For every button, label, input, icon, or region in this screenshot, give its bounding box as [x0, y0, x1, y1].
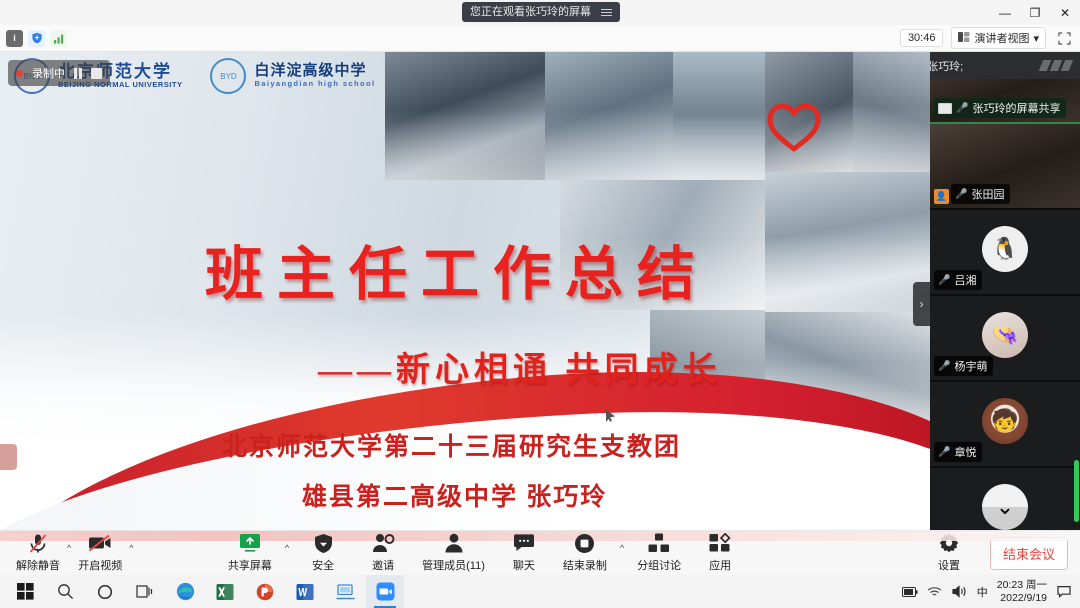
left-edge-tab[interactable] [0, 444, 17, 470]
windows-taskbar: 中 20:23 周一 2022/9/19 [0, 575, 1080, 608]
unmute-button[interactable]: 解除静音 [10, 531, 66, 576]
remote-desktop-icon[interactable] [326, 575, 364, 608]
meeting-status-icons: i [6, 30, 67, 47]
start-video-button[interactable]: 开启视频 [72, 531, 128, 576]
shared-screen-stage[interactable]: BNU 北京师范大学 BEIJING NORMAL UNIVERSITY BYD… [0, 52, 930, 530]
rail-scrollbar[interactable] [1074, 460, 1079, 522]
excel-icon[interactable] [206, 575, 244, 608]
participant-name-chip: 🎤 章悦 [934, 442, 982, 462]
microphone-muted-icon: 🎤 [938, 275, 950, 286]
hamburger-icon[interactable] [601, 7, 612, 18]
recording-dot-icon [16, 70, 23, 77]
avatar: 🐧 [982, 226, 1028, 272]
microphone-muted-icon: 🎤 [938, 361, 950, 372]
participant-name: 吕湘 [954, 272, 976, 288]
view-mode-label: 演讲者视图 [974, 30, 1029, 46]
minimize-button[interactable]: — [990, 0, 1020, 25]
breakout-rooms-label: 分组讨论 [637, 557, 681, 573]
host-badge-icon: 👤 [934, 189, 949, 204]
microphone-muted-icon: 🎤 [955, 189, 967, 200]
recording-options-chevron-icon[interactable]: ^ [619, 543, 625, 563]
powerpoint-icon[interactable] [246, 575, 284, 608]
recording-label: 录制中 [32, 65, 65, 81]
window-controls: — ❐ ✕ [990, 0, 1080, 25]
microphone-on-icon: 🎤 [956, 103, 968, 114]
toolbar-center-group: 共享屏幕 ^ 安全 邀请 管理成员(11) [222, 531, 747, 576]
info-icon[interactable]: i [6, 30, 23, 47]
search-icon[interactable] [46, 575, 84, 608]
participant-tile-lvxiang[interactable]: 🐧 🎤 吕湘 [930, 210, 1080, 296]
zoom-meeting-window: 您正在观看张巧玲的屏幕 — ❐ ✕ i 30:46 演讲者视图 [0, 0, 1080, 608]
security-button[interactable]: 安全 [296, 531, 350, 576]
ime-indicator[interactable]: 中 [977, 584, 988, 600]
word-icon[interactable] [286, 575, 324, 608]
participant-name-chip: 🎤 杨宇萌 [934, 356, 993, 376]
wave-decoration-icon [1041, 60, 1071, 71]
close-button[interactable]: ✕ [1050, 0, 1080, 25]
participant-name: 杨宇萌 [954, 358, 987, 374]
settings-label: 设置 [938, 557, 960, 573]
chat-bubble-icon [513, 533, 535, 554]
participant-name: 张田园 [971, 186, 1004, 202]
recording-indicator: 录制中 [8, 60, 110, 86]
meeting-bottom-toolbar: 解除静音 ^ 开启视频 ^ 共享屏幕 ^ [0, 530, 1080, 575]
clock-date: 2022/9/19 [997, 592, 1047, 604]
volume-icon[interactable] [952, 584, 968, 600]
participant-tile-zhangyue[interactable]: 🧒 🎤 章悦 [930, 382, 1080, 468]
viewing-screen-tooltip: 您正在观看张巧玲的屏幕 [462, 2, 620, 22]
windows-start-icon[interactable] [6, 575, 44, 608]
stop-icon[interactable] [91, 68, 102, 79]
zoom-icon[interactable] [366, 575, 404, 608]
pause-icon[interactable] [74, 68, 82, 79]
active-speaker-banner: 正在讲话: 张巧玲; [930, 52, 1080, 79]
participants-icon [443, 533, 465, 554]
invite-person-icon [372, 533, 395, 554]
view-mode-selector[interactable]: 演讲者视图 ▾ [951, 27, 1046, 49]
active-speaker-label: 正在讲话: 张巧玲; [930, 58, 963, 74]
avatar: 🧒 [982, 398, 1028, 444]
participant-name: 张巧玲的屏幕共享 [972, 100, 1060, 116]
meeting-timer: 30:46 [900, 29, 944, 47]
maximize-button[interactable]: ❐ [1020, 0, 1050, 25]
breakout-rooms-button[interactable]: 分组讨论 [631, 531, 687, 576]
security-label: 安全 [312, 557, 334, 573]
shield-encryption-icon[interactable] [28, 30, 45, 47]
manage-participants-label: 管理成员(11) [422, 557, 485, 573]
unmute-label: 解除静音 [16, 557, 60, 573]
share-screen-icon [238, 533, 262, 554]
byd-logo: BYD 白洋淀高级中学 Baiyangdian high school [210, 58, 375, 94]
slide-title: 班主任工作总结 [205, 227, 709, 311]
system-tray: 中 20:23 周一 2022/9/19 [902, 579, 1080, 603]
screen-share-icon [938, 103, 952, 114]
stop-recording-button[interactable]: 结束录制 [557, 531, 613, 576]
start-video-label: 开启视频 [78, 557, 122, 573]
collapse-rail-button[interactable]: › [913, 282, 930, 326]
security-shield-icon [314, 533, 333, 554]
apps-icon [709, 533, 731, 554]
slide-subtitle: ——新心相通 共同成长 [318, 342, 722, 391]
wifi-icon[interactable] [927, 584, 943, 600]
camera-off-icon [88, 533, 112, 554]
notification-icon[interactable] [1056, 584, 1072, 600]
byd-seal-icon: BYD [210, 58, 246, 94]
apps-label: 应用 [709, 557, 731, 573]
slide-author: 雄县第二高级中学 张巧玲 [302, 477, 607, 513]
breakout-rooms-icon [648, 533, 670, 554]
window-title-bar: 您正在观看张巧玲的屏幕 — ❐ ✕ [0, 0, 1080, 25]
signal-strength-icon[interactable] [50, 30, 67, 47]
invite-button[interactable]: 邀请 [356, 531, 410, 576]
share-options-chevron-icon[interactable]: ^ [284, 543, 290, 563]
byd-logo-en: Baiyangdian high school [254, 80, 375, 88]
taskbar-icons [0, 575, 404, 608]
chat-button[interactable]: 聊天 [497, 531, 551, 576]
microphone-muted-icon: 🎤 [938, 447, 950, 458]
slide-organization: 北京师范大学第二十三届研究生支教团 [222, 427, 681, 463]
byd-logo-cn: 白洋淀高级中学 [254, 64, 375, 80]
end-meeting-button[interactable]: 结束会议 [990, 537, 1068, 570]
stop-recording-icon [574, 533, 595, 554]
meeting-top-toolbar: i 30:46 演讲者视图 ▾ [0, 25, 1080, 52]
manage-participants-button[interactable]: 管理成员(11) [416, 531, 491, 576]
participant-rail[interactable]: 正在讲话: 张巧玲; 🎤 张巧玲的屏幕共享 👤 🎤 张田园 🐧 🎤 吕湘 [930, 52, 1080, 530]
participant-tile-yangyumeng[interactable]: 👒 🎤 杨宇萌 [930, 296, 1080, 382]
participant-tile-zhangtianyuan[interactable]: 👤 🎤 张田园 [930, 124, 1080, 210]
tooltip-label: 您正在观看张巧玲的屏幕 [470, 2, 591, 22]
share-screen-button[interactable]: 共享屏幕 [222, 531, 278, 576]
slide-text-block: 班主任工作总结 ——新心相通 共同成长 北京师范大学第二十三届研究生支教团 雄县… [0, 52, 930, 530]
invite-label: 邀请 [372, 557, 394, 573]
presentation-slide: BNU 北京师范大学 BEIJING NORMAL UNIVERSITY BYD… [0, 52, 930, 530]
participant-name-chip: 🎤 张田园 [951, 184, 1010, 204]
participant-name-chip: 🎤 张巧玲的屏幕共享 [934, 98, 1066, 118]
avatar: 👒 [982, 312, 1028, 358]
toolbar-left-group: 解除静音 ^ 开启视频 ^ [0, 531, 134, 576]
avatar: ⌄ [982, 484, 1028, 530]
meeting-toolbar-right: 30:46 演讲者视图 ▾ [900, 27, 1074, 49]
layout-icon [958, 31, 970, 46]
taskbar-clock[interactable]: 20:23 周一 2022/9/19 [997, 579, 1047, 603]
battery-icon[interactable] [902, 584, 918, 600]
participant-name: 章悦 [954, 444, 976, 460]
edge-icon[interactable] [166, 575, 204, 608]
cortana-icon[interactable] [86, 575, 124, 608]
chevron-down-icon: ▾ [1033, 32, 1039, 45]
chat-label: 聊天 [513, 557, 535, 573]
task-view-icon[interactable] [126, 575, 164, 608]
share-screen-label: 共享屏幕 [228, 557, 272, 573]
microphone-muted-icon [28, 533, 48, 554]
clock-time: 20:23 周一 [997, 579, 1047, 591]
stop-recording-label: 结束录制 [563, 557, 607, 573]
fullscreen-icon[interactable] [1054, 29, 1074, 47]
participant-tile-partial[interactable]: ⌄ [930, 468, 1080, 530]
participant-name-chip: 🎤 吕湘 [934, 270, 982, 290]
apps-button[interactable]: 应用 [693, 531, 747, 576]
video-options-chevron-icon[interactable]: ^ [128, 543, 134, 563]
